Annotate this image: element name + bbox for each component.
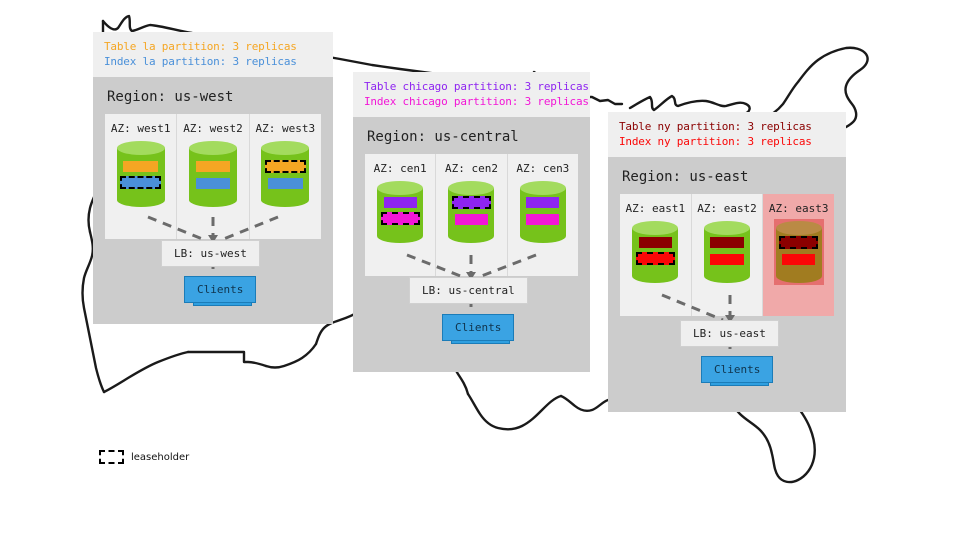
replica-band-table: [710, 237, 743, 248]
node-cylinder[interactable]: [520, 181, 566, 243]
clients-node-us-central[interactable]: Clients: [442, 314, 512, 346]
az-west2: AZ: west2: [177, 114, 249, 239]
load-balancer-us-west[interactable]: LB: us-west: [161, 240, 260, 267]
lb-label: LB: us-central: [422, 284, 515, 297]
az-row: AZ: cen1 AZ: cen2: [365, 154, 578, 276]
az-row: AZ: west1 AZ: west2: [105, 114, 321, 239]
replica-band-table: [196, 161, 231, 172]
replica-band-index: [526, 214, 559, 225]
replica-band-index: [268, 178, 303, 189]
partition-line-table: Table ny partition: 3 replicas: [619, 119, 835, 134]
node-cylinder[interactable]: [117, 141, 165, 207]
region-title: Region: us-east: [608, 157, 846, 194]
region-header-us-central: Table chicago partition: 3 replicas Inde…: [353, 72, 590, 117]
replica-band-table: [384, 197, 417, 208]
az-label: AZ: cen2: [436, 154, 506, 181]
az-label: AZ: east1: [620, 194, 691, 221]
region-header-us-west: Table la partition: 3 replicas Index la …: [93, 32, 333, 77]
node-cylinder[interactable]: [261, 141, 309, 207]
clients-node-us-east[interactable]: Clients: [701, 356, 771, 388]
legend-label: leaseholder: [131, 452, 189, 463]
az-cen3: AZ: cen3: [508, 154, 578, 276]
cylinder-body: [117, 148, 165, 200]
replica-band-table-leaseholder: [452, 196, 491, 209]
load-balancer-us-central[interactable]: LB: us-central: [409, 277, 528, 304]
region-panel-us-west: Table la partition: 3 replicas Index la …: [93, 32, 333, 324]
clients-label: Clients: [197, 283, 243, 296]
replica-band-index: [196, 178, 231, 189]
az-label: AZ: east2: [692, 194, 763, 221]
partition-line-index: Index la partition: 3 replicas: [104, 54, 322, 69]
az-label: AZ: cen3: [508, 154, 578, 181]
cylinder-top: [117, 141, 165, 155]
az-cen2: AZ: cen2: [436, 154, 507, 276]
cylinder-top: [520, 181, 566, 195]
clients-label: Clients: [714, 363, 760, 376]
az-west1: AZ: west1: [105, 114, 177, 239]
failed-node-overlay: [774, 219, 824, 285]
region-panel-us-east: Table ny partition: 3 replicas Index ny …: [608, 112, 846, 412]
replica-band-table: [123, 161, 158, 172]
region-title: Region: us-central: [353, 117, 590, 154]
az-label: AZ: west2: [177, 114, 248, 141]
region-panel-us-central: Table chicago partition: 3 replicas Inde…: [353, 72, 590, 372]
partition-line-table: Table la partition: 3 replicas: [104, 39, 322, 54]
az-cen1: AZ: cen1: [365, 154, 436, 276]
partition-line-table: Table chicago partition: 3 replicas: [364, 79, 579, 94]
region-title: Region: us-west: [93, 77, 333, 114]
replica-band-index-leaseholder: [120, 176, 161, 189]
replica-band-table-leaseholder: [265, 160, 306, 173]
cylinder-top: [261, 141, 309, 155]
diagram-canvas: Table la partition: 3 replicas Index la …: [0, 0, 960, 540]
legend: leaseholder: [99, 450, 189, 464]
cylinder-top: [189, 141, 237, 155]
cylinder-top: [704, 221, 750, 235]
replica-band-table: [526, 197, 559, 208]
clients-box[interactable]: Clients: [184, 276, 256, 303]
region-header-us-east: Table ny partition: 3 replicas Index ny …: [608, 112, 846, 157]
partition-line-index: Index chicago partition: 3 replicas: [364, 94, 579, 109]
dashed-rect-icon: [99, 450, 124, 464]
node-cylinder[interactable]: [776, 221, 822, 283]
replica-band-table-leaseholder: [779, 236, 818, 249]
replica-band-index-leaseholder: [636, 252, 675, 265]
az-label: AZ: east3: [763, 194, 834, 221]
cylinder-body: [261, 148, 309, 200]
az-east2: AZ: east2: [692, 194, 764, 316]
az-east1: AZ: east1: [620, 194, 692, 316]
replica-band-index: [710, 254, 743, 265]
cylinder-body: [520, 188, 566, 236]
cylinder-top: [377, 181, 423, 195]
cylinder-body: [189, 148, 237, 200]
az-label: AZ: west3: [250, 114, 321, 141]
replica-band-index: [782, 254, 815, 265]
az-west3: AZ: west3: [250, 114, 321, 239]
clients-label: Clients: [455, 321, 501, 334]
node-cylinder[interactable]: [704, 221, 750, 283]
node-cylinder[interactable]: [632, 221, 678, 283]
replica-band-index-leaseholder: [381, 212, 420, 225]
replica-band-table: [639, 237, 672, 248]
clients-box[interactable]: Clients: [442, 314, 514, 341]
lb-label: LB: us-west: [174, 247, 247, 260]
clients-node-us-west[interactable]: Clients: [184, 276, 254, 308]
node-cylinder[interactable]: [377, 181, 423, 243]
cylinder-top: [632, 221, 678, 235]
az-label: AZ: west1: [105, 114, 176, 141]
az-east3-failed: AZ: east3: [763, 194, 834, 316]
clients-box[interactable]: Clients: [701, 356, 773, 383]
load-balancer-us-east[interactable]: LB: us-east: [680, 320, 779, 347]
az-label: AZ: cen1: [365, 154, 435, 181]
az-row: AZ: east1 AZ: east2: [620, 194, 834, 316]
node-cylinder[interactable]: [189, 141, 237, 207]
node-cylinder[interactable]: [448, 181, 494, 243]
lb-label: LB: us-east: [693, 327, 766, 340]
replica-band-index: [455, 214, 488, 225]
partition-line-index: Index ny partition: 3 replicas: [619, 134, 835, 149]
cylinder-body: [704, 228, 750, 276]
